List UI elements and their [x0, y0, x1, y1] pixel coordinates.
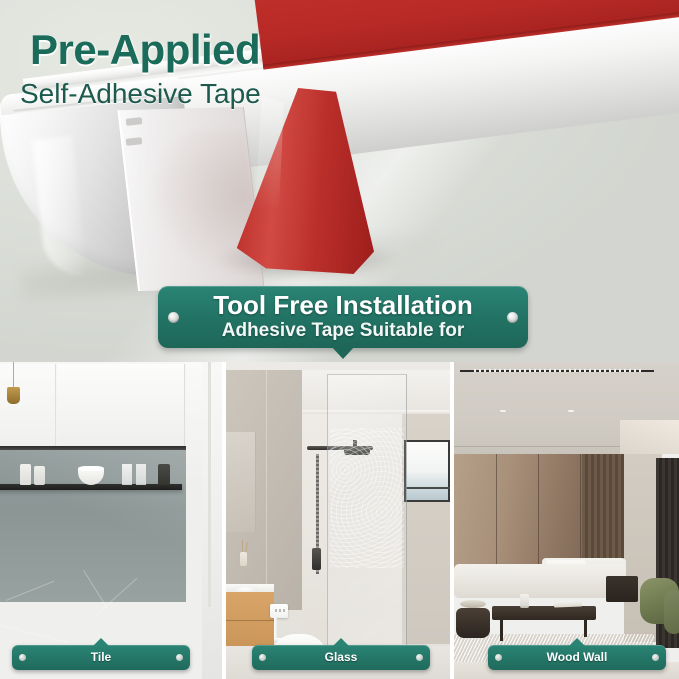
green-accent-chair-second [664, 590, 679, 634]
kitchen-cabinet-right [57, 364, 185, 447]
outlet-slot [283, 609, 285, 612]
page-subtitle: Self-Adhesive Tape [20, 78, 261, 110]
page-title: Pre-Applied [30, 26, 260, 74]
pendant-lamp-cord [13, 362, 14, 388]
wood-panel-seam [496, 454, 497, 582]
ceramic-cup [20, 464, 31, 485]
marble-vein [92, 578, 137, 619]
drinking-glass [136, 464, 146, 485]
kitchen-window [202, 362, 222, 679]
scene-badge-wood-wall: Wood Wall [488, 645, 666, 670]
glass-vase [520, 594, 529, 608]
ceramic-bowl-rim [78, 466, 104, 471]
banner-subline: Adhesive Tape Suitable for [158, 320, 528, 342]
glass-water-droplets [330, 428, 404, 568]
kitchen-cabinet-left [0, 364, 56, 447]
marble-vein [83, 570, 107, 608]
marble-vein [0, 625, 68, 643]
coffee-table-book [554, 602, 582, 608]
ceiling-corner-soffit [620, 420, 679, 454]
bathroom-window [404, 440, 450, 502]
coffee-table [492, 606, 596, 620]
marble-vein [6, 581, 55, 601]
wood-panel-seam [538, 454, 539, 582]
vanity-drawer-seam [226, 620, 274, 621]
coffee-table-leg [500, 619, 503, 641]
outlet-slot [279, 609, 281, 612]
reed-diffuser-bottle [240, 552, 247, 566]
pendant-lamp-icon [7, 387, 20, 404]
bathroom-mirror [226, 432, 256, 532]
product-infographic: Pre-Applied Self-Adhesive Tape Tool Free… [0, 0, 679, 679]
scene-glass-bathroom: Glass [226, 362, 450, 679]
badge-label: Glass [252, 645, 430, 670]
application-scenes: Tile [0, 362, 679, 679]
scene-tile-kitchen: Tile [0, 362, 222, 679]
sectional-sofa [454, 564, 626, 598]
round-side-pouf [456, 608, 490, 638]
wall-panel-seam [266, 370, 267, 610]
ceiling-diffuser-dots [474, 369, 644, 372]
decorative-bowl [460, 600, 486, 608]
drinking-glass [122, 464, 132, 485]
outlet-slot [275, 609, 277, 612]
kitchen-window-mullion [208, 362, 211, 607]
badge-label: Wood Wall [488, 645, 666, 670]
ceramic-cup [34, 466, 45, 485]
dark-canister [158, 464, 170, 485]
handheld-shower [312, 548, 321, 570]
badge-label: Tile [12, 645, 190, 670]
wall-outlet-icon [270, 604, 288, 618]
kitchen-cabinet-edge [186, 362, 202, 482]
tool-free-banner: Tool Free Installation Adhesive Tape Sui… [158, 286, 528, 348]
sofa-side-table [606, 576, 638, 602]
scene-wood-wall-living-room: Wood Wall [454, 362, 679, 679]
scene-badge-tile: Tile [12, 645, 190, 670]
banner-pointer [330, 345, 356, 359]
coffee-table-leg [584, 619, 587, 637]
scene-badge-glass: Glass [252, 645, 430, 670]
bathroom-window-sill [404, 487, 450, 489]
recessed-downlight [568, 410, 574, 412]
banner-headline: Tool Free Installation [158, 290, 528, 321]
recessed-downlight [500, 410, 506, 412]
